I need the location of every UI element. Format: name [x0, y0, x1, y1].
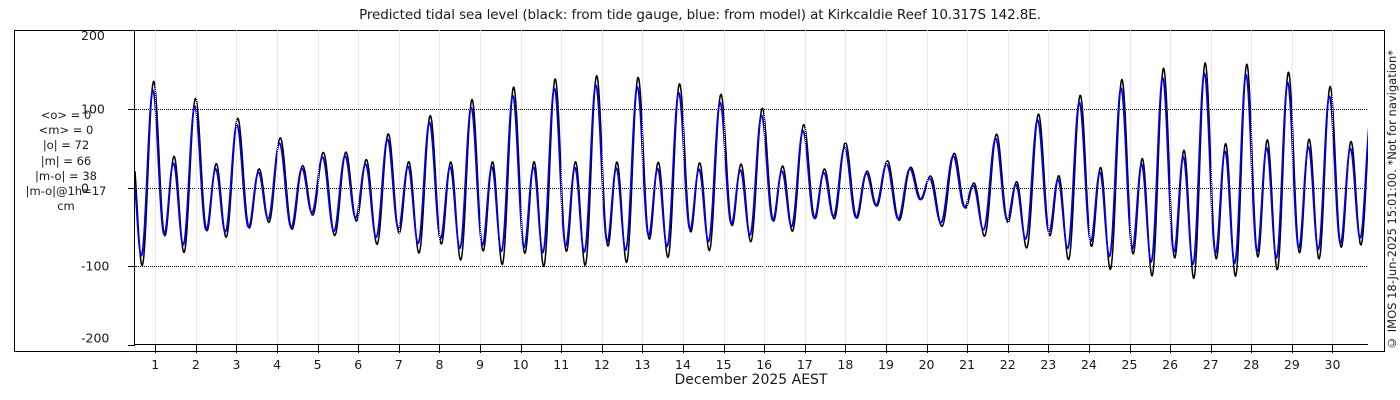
x-tick-label-6: 6 — [354, 357, 362, 372]
x-tick-27 — [1211, 345, 1212, 353]
x-gridline-20 — [927, 30, 928, 344]
x-tick-label-9: 9 — [476, 357, 484, 372]
x-gridline-1 — [155, 30, 156, 344]
x-tick-16 — [764, 345, 765, 353]
x-tick-label-16: 16 — [756, 357, 772, 372]
y-tick-200 — [128, 30, 135, 31]
y-tick-label-0: 0 — [77, 180, 128, 195]
x-tick-label-15: 15 — [716, 357, 732, 372]
x-tick-label-3: 3 — [232, 357, 240, 372]
x-tick-label-29: 29 — [1284, 357, 1300, 372]
y-tick-100 — [128, 109, 135, 110]
x-tick-label-18: 18 — [837, 357, 853, 372]
x-tick-label-17: 17 — [797, 357, 813, 372]
x-tick-label-26: 26 — [1162, 357, 1178, 372]
x-gridline-18 — [845, 30, 846, 344]
x-tick-label-14: 14 — [675, 357, 691, 372]
y-tick-label-100: 100 — [77, 101, 128, 116]
x-gridline-11 — [561, 30, 562, 344]
credit-text: © IMOS 18-Jun-2025 15:01:00. *Not for na… — [1385, 50, 1399, 350]
x-gridline-12 — [602, 30, 603, 344]
x-gridline-25 — [1130, 30, 1131, 344]
x-tick-label-12: 12 — [594, 357, 610, 372]
stat-line-2: |o| = 72 — [2, 138, 130, 153]
plot-area: 2001000-100-2001234567891011121314151617… — [134, 30, 1368, 345]
x-tick-4 — [277, 345, 278, 353]
x-gridline-15 — [724, 30, 725, 344]
x-gridline-5 — [318, 30, 319, 344]
x-tick-label-4: 4 — [273, 357, 281, 372]
x-gridline-22 — [1008, 30, 1009, 344]
x-tick-label-23: 23 — [1040, 357, 1056, 372]
stat-line-3: |m| = 66 — [2, 154, 130, 169]
x-gridline-19 — [886, 30, 887, 344]
series-line-from-model — [135, 73, 1368, 264]
x-tick-30 — [1332, 345, 1333, 353]
x-tick-3 — [236, 345, 237, 353]
x-tick-13 — [642, 345, 643, 353]
x-tick-label-1: 1 — [151, 357, 159, 372]
x-tick-15 — [724, 345, 725, 353]
series-line-from-tide-gauge — [135, 63, 1368, 278]
x-gridline-8 — [439, 30, 440, 344]
x-gridline-30 — [1332, 30, 1333, 344]
tidal-chart-figure: Predicted tidal sea level (black: from t… — [0, 0, 1400, 400]
x-tick-label-28: 28 — [1243, 357, 1259, 372]
x-tick-17 — [805, 345, 806, 353]
statistics-block: <o> = 0<m> = 0|o| = 72|m| = 66|m-o| = 38… — [2, 108, 130, 214]
x-tick-18 — [845, 345, 846, 353]
x-tick-11 — [561, 345, 562, 353]
x-gridline-4 — [277, 30, 278, 344]
x-gridline-27 — [1211, 30, 1212, 344]
plot-canvas — [135, 30, 1368, 344]
x-tick-10 — [521, 345, 522, 353]
x-tick-label-20: 20 — [919, 357, 935, 372]
y-gridline-0 — [135, 188, 1368, 189]
x-gridline-9 — [480, 30, 481, 344]
y-gridline-200 — [135, 30, 1368, 31]
x-tick-1 — [155, 345, 156, 353]
x-gridline-28 — [1251, 30, 1252, 344]
y-tick-label--100: -100 — [77, 259, 128, 274]
x-gridline-17 — [805, 30, 806, 344]
y-gridline--100 — [135, 266, 1368, 267]
x-tick-21 — [967, 345, 968, 353]
x-tick-2 — [196, 345, 197, 353]
x-gridline-23 — [1048, 30, 1049, 344]
y-tick--200 — [128, 345, 135, 346]
x-tick-label-11: 11 — [553, 357, 569, 372]
page-title: Predicted tidal sea level (black: from t… — [0, 7, 1400, 23]
x-tick-label-24: 24 — [1081, 357, 1097, 372]
x-tick-label-13: 13 — [634, 357, 650, 372]
y-tick-0 — [128, 188, 135, 189]
x-tick-23 — [1048, 345, 1049, 353]
x-tick-9 — [480, 345, 481, 353]
x-gridline-16 — [764, 30, 765, 344]
x-tick-label-22: 22 — [1000, 357, 1016, 372]
x-tick-19 — [886, 345, 887, 353]
x-tick-label-21: 21 — [959, 357, 975, 372]
x-gridline-6 — [358, 30, 359, 344]
x-gridline-14 — [683, 30, 684, 344]
x-tick-25 — [1130, 345, 1131, 353]
x-tick-12 — [602, 345, 603, 353]
x-gridline-13 — [642, 30, 643, 344]
x-tick-label-27: 27 — [1203, 357, 1219, 372]
x-gridline-21 — [967, 30, 968, 344]
x-gridline-10 — [521, 30, 522, 344]
x-tick-22 — [1008, 345, 1009, 353]
x-tick-14 — [683, 345, 684, 353]
y-tick-label--200: -200 — [77, 331, 128, 346]
x-tick-label-8: 8 — [435, 357, 443, 372]
x-tick-26 — [1170, 345, 1171, 353]
x-gridline-29 — [1292, 30, 1293, 344]
x-tick-6 — [358, 345, 359, 353]
x-tick-7 — [399, 345, 400, 353]
y-tick-label-200: 200 — [77, 28, 128, 43]
x-gridline-3 — [236, 30, 237, 344]
y-gridline-100 — [135, 109, 1368, 110]
copyright-credit: © IMOS 18-Jun-2025 15:01:00. *Not for na… — [1382, 0, 1400, 400]
x-axis-title: December 2025 AEST — [134, 372, 1368, 388]
x-gridline-26 — [1170, 30, 1171, 344]
x-tick-label-5: 5 — [314, 357, 322, 372]
x-tick-20 — [927, 345, 928, 353]
stat-line-1: <m> = 0 — [2, 123, 130, 138]
y-tick--100 — [128, 266, 135, 267]
x-tick-label-19: 19 — [878, 357, 894, 372]
x-tick-label-7: 7 — [395, 357, 403, 372]
x-tick-label-2: 2 — [192, 357, 200, 372]
x-tick-28 — [1251, 345, 1252, 353]
x-gridline-24 — [1089, 30, 1090, 344]
x-gridline-7 — [399, 30, 400, 344]
stat-line-6: cm — [2, 199, 130, 214]
x-tick-label-25: 25 — [1122, 357, 1138, 372]
x-tick-label-10: 10 — [513, 357, 529, 372]
x-tick-29 — [1292, 345, 1293, 353]
x-tick-24 — [1089, 345, 1090, 353]
x-tick-8 — [439, 345, 440, 353]
x-tick-label-30: 30 — [1325, 357, 1341, 372]
x-tick-5 — [318, 345, 319, 353]
x-gridline-2 — [196, 30, 197, 344]
